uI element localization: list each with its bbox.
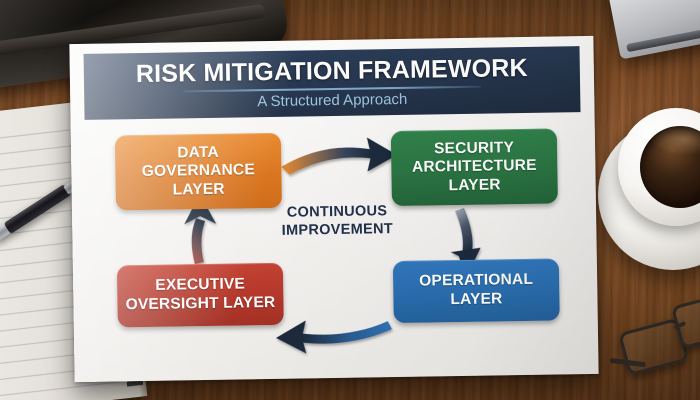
- box-data-governance-label: DATAGOVERNANCELAYER: [141, 143, 255, 201]
- arrow-bottom: [276, 319, 393, 354]
- box-operational-layer[interactable]: OPERATIONALLAYER: [393, 258, 560, 323]
- box-executive-oversight-label: EXECUTIVEOVERSIGHT LAYER: [125, 275, 275, 315]
- box-executive-oversight-layer[interactable]: EXECUTIVEOVERSIGHT LAYER: [117, 263, 284, 328]
- arrow-top: [281, 137, 398, 175]
- continuous-improvement-label: CONTINUOUS IMPROVEMENT: [252, 202, 423, 241]
- box-security-architecture-label: SECURITYARCHITECTURELAYER: [412, 138, 538, 196]
- box-security-architecture-layer[interactable]: SECURITYARCHITECTURELAYER: [391, 128, 558, 206]
- printed-diagram-sheet: RISK MITIGATION FRAMEWORK A Structured A…: [69, 36, 598, 382]
- box-data-governance-layer[interactable]: DATAGOVERNANCELAYER: [115, 133, 282, 211]
- continuous-improvement-line2: IMPROVEMENT: [252, 220, 422, 241]
- box-operational-label: OPERATIONALLAYER: [419, 271, 533, 310]
